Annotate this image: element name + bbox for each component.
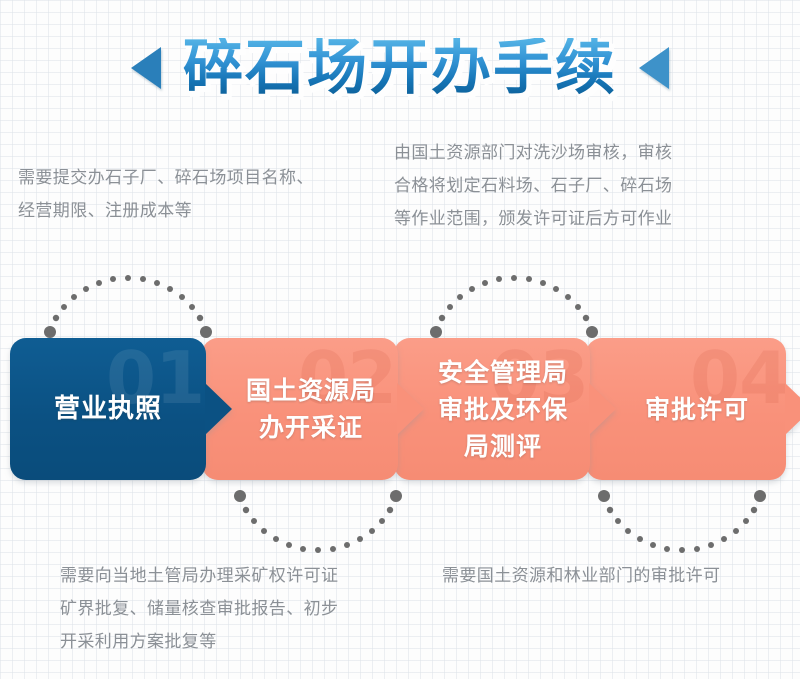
caption-top-left: 需要提交办石子厂、碎石场项目名称、 经营期限、注册成本等 [18,162,378,228]
flow-step-2-label: 国土资源局 办开采证 [224,372,376,446]
flow-step-2-chevron [397,383,424,435]
flow-step-3-chevron [589,383,616,435]
flow-step-1-chevron [205,383,232,435]
flow-step-1-label: 营业执照 [54,391,162,428]
flow-step-1[interactable]: 01 营业执照 [10,338,206,480]
caption-bottom-left: 需要向当地土管局办理采矿权许可证 矿界批复、储量核查审批报告、初步 开采利用方案… [60,560,420,659]
page-title: 碎石场开办手续 碎石场开办手续 [0,18,800,118]
arc-top-step3-to-caption [424,266,604,344]
flow-step-3-label: 安全管理局 审批及环保 局测评 [416,354,568,465]
process-flow: 01 营业执照 02 国土资源局 办开采证 03 安全管理局 审批及环保 局测评… [0,338,800,480]
arc-bottom-step2-to-caption [228,484,408,562]
arc-bottom-step4-to-caption [592,484,772,562]
right-triangle-icon [639,47,669,89]
infographic-canvas: 碎石场开办手续 碎石场开办手续 需要提交办石子厂、碎石场项目名称、 经营期限、注… [0,0,800,679]
flow-step-4-chevron [785,383,800,435]
flow-step-4-label: 审批许可 [623,391,749,428]
arc-top-step1-to-caption [38,266,218,344]
title-label: 碎石场开办手续 [183,38,617,98]
flow-step-4[interactable]: 04 审批许可 [586,338,786,480]
caption-top-right: 由国土资源部门对洗沙场审核，审核 合格将划定石料场、石子厂、碎石场 等作业范围，… [394,137,786,236]
left-triangle-icon [131,47,161,89]
caption-bottom-right: 需要国土资源和林业部门的审批许可 [442,560,800,593]
title-text-wrap: 碎石场开办手续 碎石场开办手续 [183,38,617,98]
